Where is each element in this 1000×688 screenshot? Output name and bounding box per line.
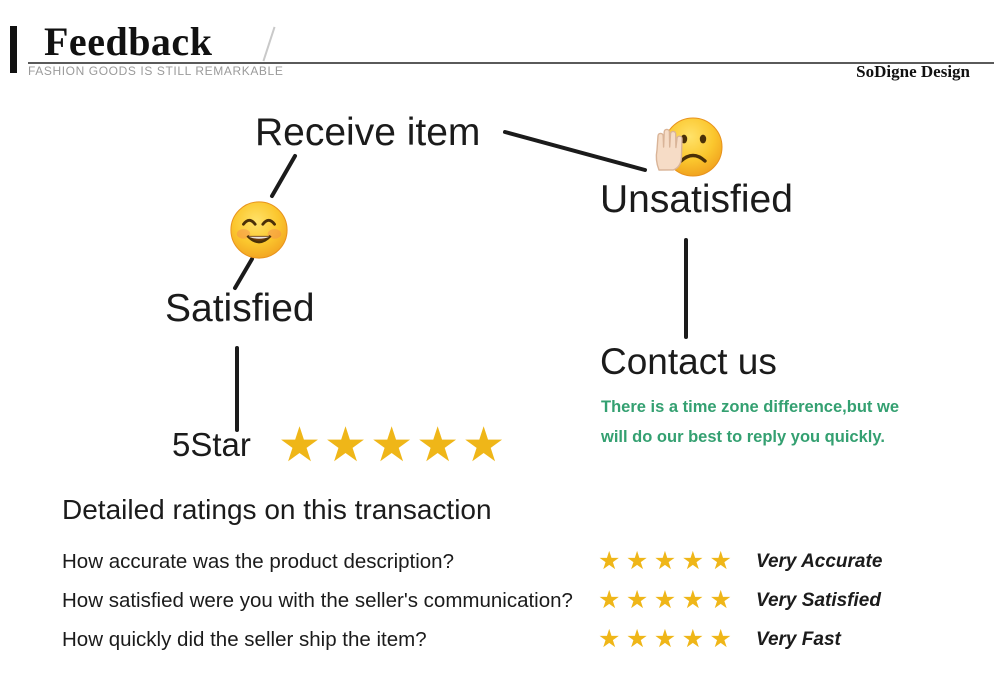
star-icon: ★ [370,422,413,470]
five-star-rating: ★ ★ ★ ★ ★ [278,422,508,470]
star-icon: ★ [416,422,459,470]
star-icon: ★ [682,588,704,613]
star-icon: ★ [626,588,648,613]
star-icon: ★ [324,422,367,470]
star-icon: ★ [682,549,704,574]
brand-name: SoDigne Design [856,62,970,82]
rating-score-row: ★ ★ ★ ★ ★ Very Accurate [598,542,958,581]
node-satisfied: Satisfied [165,289,315,328]
connector-emoji-to-satisfied [235,259,252,288]
rating-score-row: ★ ★ ★ ★ ★ Very Satisfied [598,581,958,620]
ratings-question-list: How accurate was the product description… [62,542,582,659]
star-icon: ★ [654,627,676,652]
feedback-banner: Feedback FASHION GOODS IS STILL REMARKAB… [0,0,1000,688]
rating-question: How satisfied were you with the seller's… [62,581,582,620]
rating-question: How quickly did the seller ship the item… [62,620,582,659]
rating-stars: ★ ★ ★ ★ ★ [598,588,756,613]
star-icon: ★ [598,627,620,652]
header-slash-decoration [262,27,275,62]
header-subtitle: FASHION GOODS IS STILL REMARKABLE [28,64,283,78]
star-icon: ★ [710,588,732,613]
star-icon: ★ [462,422,505,470]
connector-receive-to-unsatisfied [505,132,645,170]
rating-stars: ★ ★ ★ ★ ★ [598,549,756,574]
connector-receive-to-satisfied-emoji [272,156,295,196]
frowning-face-with-raised-hand-icon [645,114,729,180]
node-5star-label: 5Star [172,428,251,461]
ratings-score-list: ★ ★ ★ ★ ★ Very Accurate ★ ★ ★ ★ ★ Very S… [598,542,958,659]
rating-question: How accurate was the product description… [62,542,582,581]
star-icon: ★ [682,627,704,652]
header-accent-bar [10,26,17,73]
star-icon: ★ [278,422,321,470]
smiling-face-with-smiling-eyes-icon [228,199,290,261]
contact-note: There is a time zone difference,but we w… [601,392,901,452]
node-contact-us: Contact us [600,343,777,380]
rating-stars: ★ ★ ★ ★ ★ [598,627,756,652]
star-icon: ★ [598,549,620,574]
rating-score-row: ★ ★ ★ ★ ★ Very Fast [598,620,958,659]
star-icon: ★ [710,627,732,652]
star-icon: ★ [654,549,676,574]
star-icon: ★ [710,549,732,574]
node-unsatisfied: Unsatisfied [600,180,793,219]
star-icon: ★ [654,588,676,613]
rating-score-label: Very Fast [756,629,841,651]
detailed-ratings-heading: Detailed ratings on this transaction [62,496,492,524]
feedback-flow-diagram: Receive item Unsatisfied Satisfied Conta… [0,92,1000,688]
node-receive-item: Receive item [255,113,480,152]
page-title: Feedback [44,20,212,64]
star-icon: ★ [626,549,648,574]
page-header: Feedback FASHION GOODS IS STILL REMARKAB… [0,0,1000,92]
star-icon: ★ [598,588,620,613]
star-icon: ★ [626,627,648,652]
rating-score-label: Very Satisfied [756,590,881,612]
rating-score-label: Very Accurate [756,551,882,573]
